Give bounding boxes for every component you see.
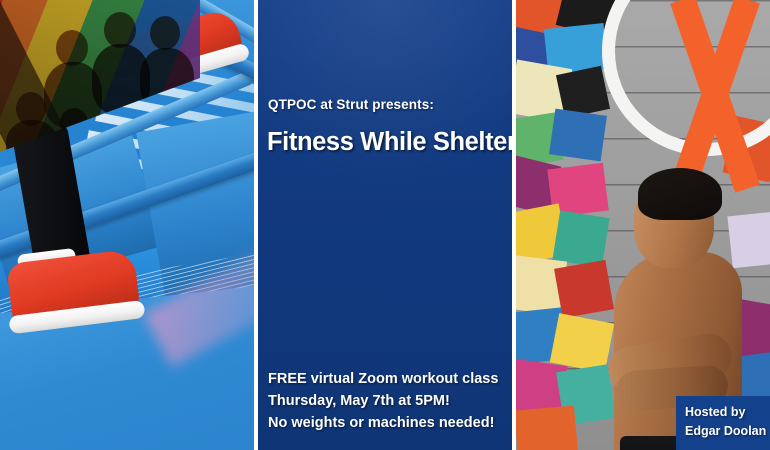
event-title: Fitness While Sheltered 2.0 bbox=[267, 128, 511, 157]
detail-line-class: FREE virtual Zoom workout class bbox=[268, 368, 508, 390]
event-details: FREE virtual Zoom workout class Thursday… bbox=[268, 368, 508, 434]
host-label: Hosted by bbox=[685, 403, 770, 422]
mural-panel bbox=[549, 109, 607, 162]
mural-panel bbox=[516, 405, 578, 450]
detail-line-date: Thursday, May 7th at 5PM! bbox=[268, 390, 508, 412]
right-photo-panel: Hosted by Edgar Doolan bbox=[516, 0, 770, 450]
person-hair bbox=[638, 168, 722, 220]
center-text-panel: QTPOC at Strut presents: Fitness While S… bbox=[258, 0, 512, 450]
left-photo-panel bbox=[0, 0, 254, 450]
mural-orange-x-icon bbox=[668, 0, 762, 194]
detail-line-equipment: No weights or machines needed! bbox=[268, 412, 508, 434]
host-name: Edgar Doolan bbox=[685, 422, 770, 441]
red-sneaker-lower bbox=[1, 240, 151, 346]
host-credit-box: Hosted by Edgar Doolan bbox=[676, 396, 770, 450]
presenter-line: QTPOC at Strut presents: bbox=[268, 97, 506, 112]
event-flyer: QTPOC at Strut presents: Fitness While S… bbox=[0, 0, 770, 450]
